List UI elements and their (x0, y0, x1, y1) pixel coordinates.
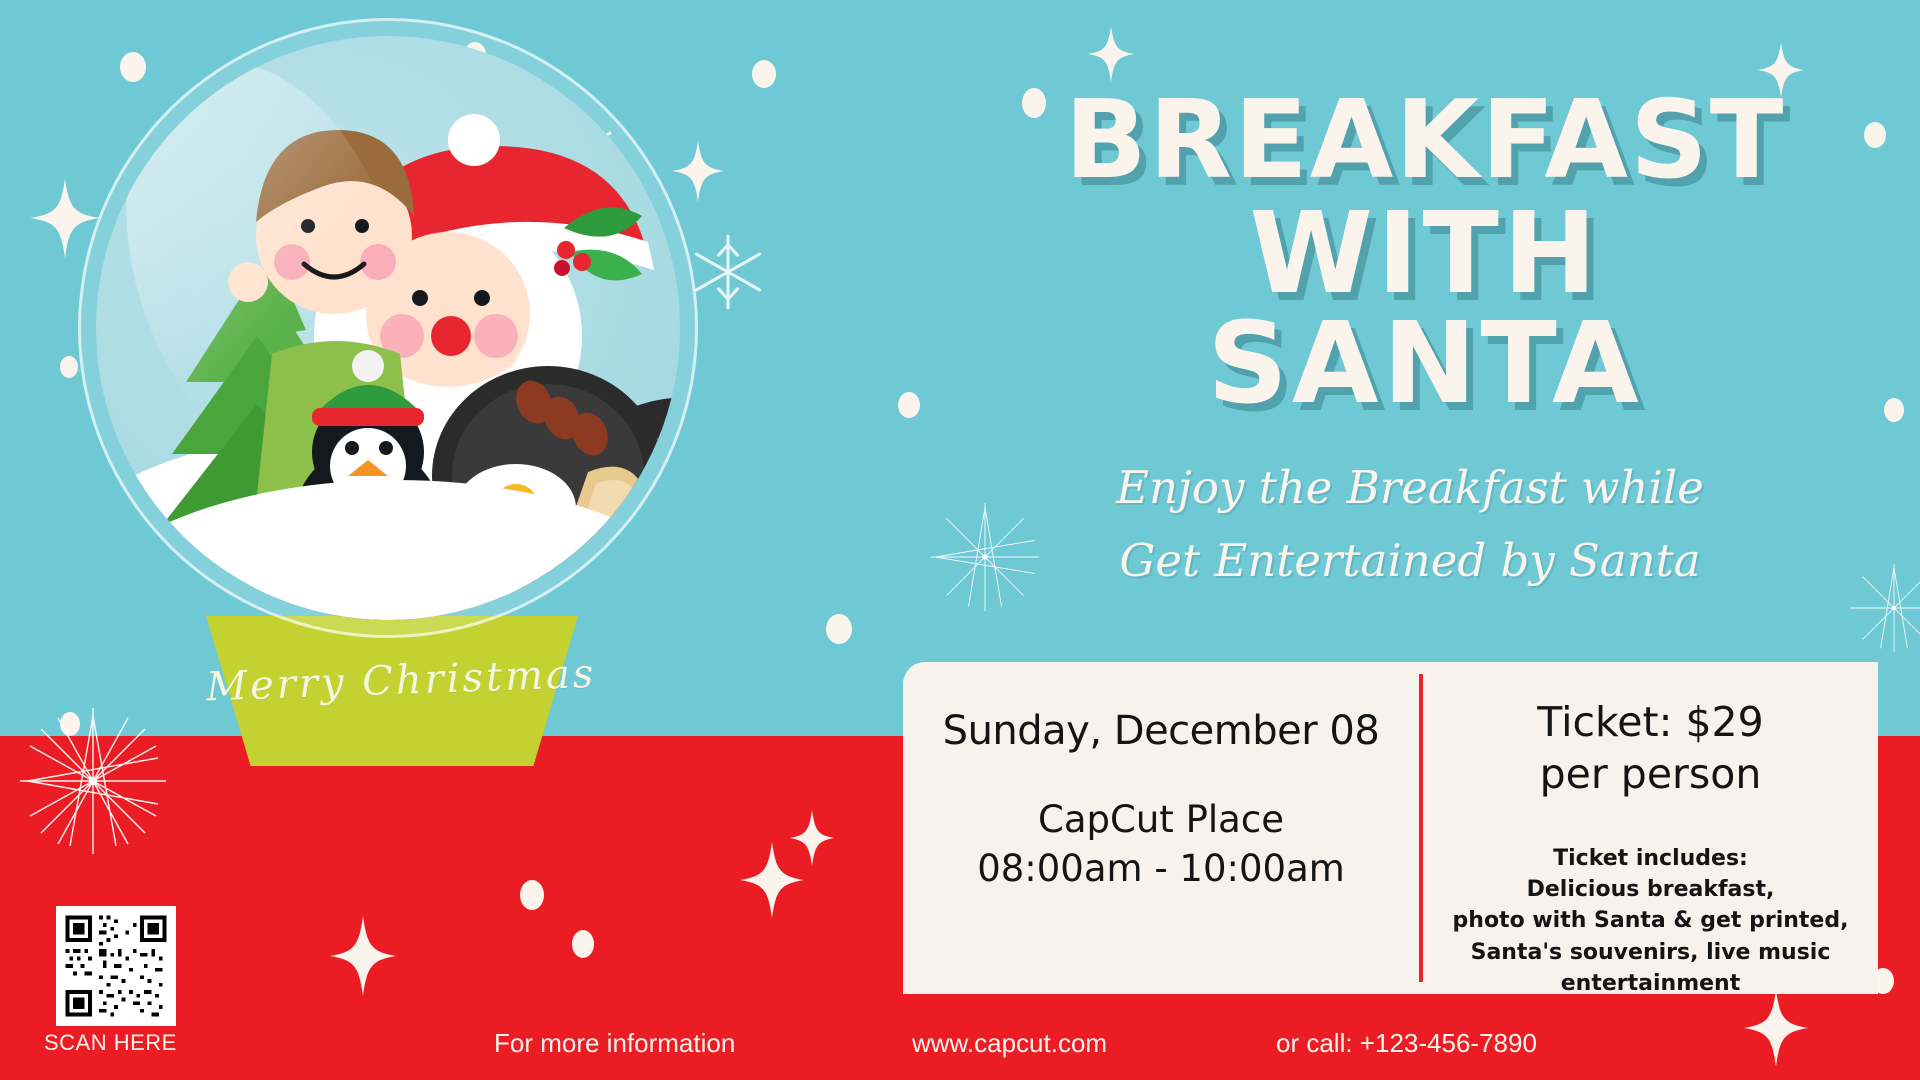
sparkle-icon (790, 810, 834, 866)
ticket-includes-title: Ticket includes: (1441, 843, 1860, 874)
globe-scene (96, 36, 680, 620)
snow-dot (898, 392, 920, 418)
event-date: Sunday, December 08 (929, 708, 1393, 754)
website-link[interactable]: www.capcut.com (912, 1028, 1107, 1059)
phone-number[interactable]: or call: +123-456-7890 (1276, 1028, 1537, 1059)
ticket-card: Ticket: $29 per person Ticket includes: … (1423, 662, 1878, 994)
ticket-price-unit: per person (1441, 748, 1860, 800)
ticket-price: Ticket: $29 per person (1441, 696, 1860, 801)
ticket-includes-line: Santa's souvenirs, live music (1441, 937, 1860, 968)
event-venue-time: CapCut Place 08:00am - 10:00am (929, 796, 1393, 894)
poster-canvas: Merry Christmas (0, 0, 1920, 1080)
ticket-includes-line: Delicious breakfast, (1441, 874, 1860, 905)
event-venue: CapCut Place (929, 796, 1393, 845)
ticket-includes-line: photo with Santa & get printed, (1441, 905, 1860, 936)
sparkle-icon (330, 916, 396, 996)
starburst-icon (1846, 560, 1920, 661)
snow-dot (1864, 122, 1886, 148)
page-title: BREAKFAST WITH SANTA (1030, 88, 1820, 419)
snow-globe-illustration: Merry Christmas (78, 18, 718, 898)
ticket-price-amount: Ticket: $29 (1441, 696, 1860, 748)
event-details-card: Sunday, December 08 CapCut Place 08:00am… (903, 662, 1419, 994)
snow-dot (1884, 398, 1904, 422)
snow-dot (60, 356, 78, 378)
title-line-1: BREAKFAST (1030, 88, 1820, 194)
snow-dot (752, 60, 776, 88)
subtitle-line-1: Enjoy the Breakfast while (1000, 452, 1820, 525)
title-line-2: WITH SANTA (1030, 200, 1820, 420)
snow-dot (572, 930, 594, 958)
snow-dot (826, 614, 852, 644)
more-info-label: For more information (494, 1028, 735, 1059)
sparkle-icon (1088, 26, 1134, 82)
info-card-group: Sunday, December 08 CapCut Place 08:00am… (903, 662, 1878, 994)
subtitle: Enjoy the Breakfast while Get Entertaine… (1000, 452, 1820, 598)
scan-here-label: SCAN HERE (44, 1030, 177, 1056)
sparkle-icon (1744, 990, 1808, 1066)
event-time: 08:00am - 10:00am (929, 845, 1393, 894)
ticket-includes-line: entertainment (1441, 968, 1860, 999)
qr-code[interactable] (56, 906, 176, 1026)
ticket-includes: Ticket includes: Delicious breakfast, ph… (1441, 843, 1860, 999)
subtitle-line-2: Get Entertained by Santa (1000, 525, 1820, 598)
